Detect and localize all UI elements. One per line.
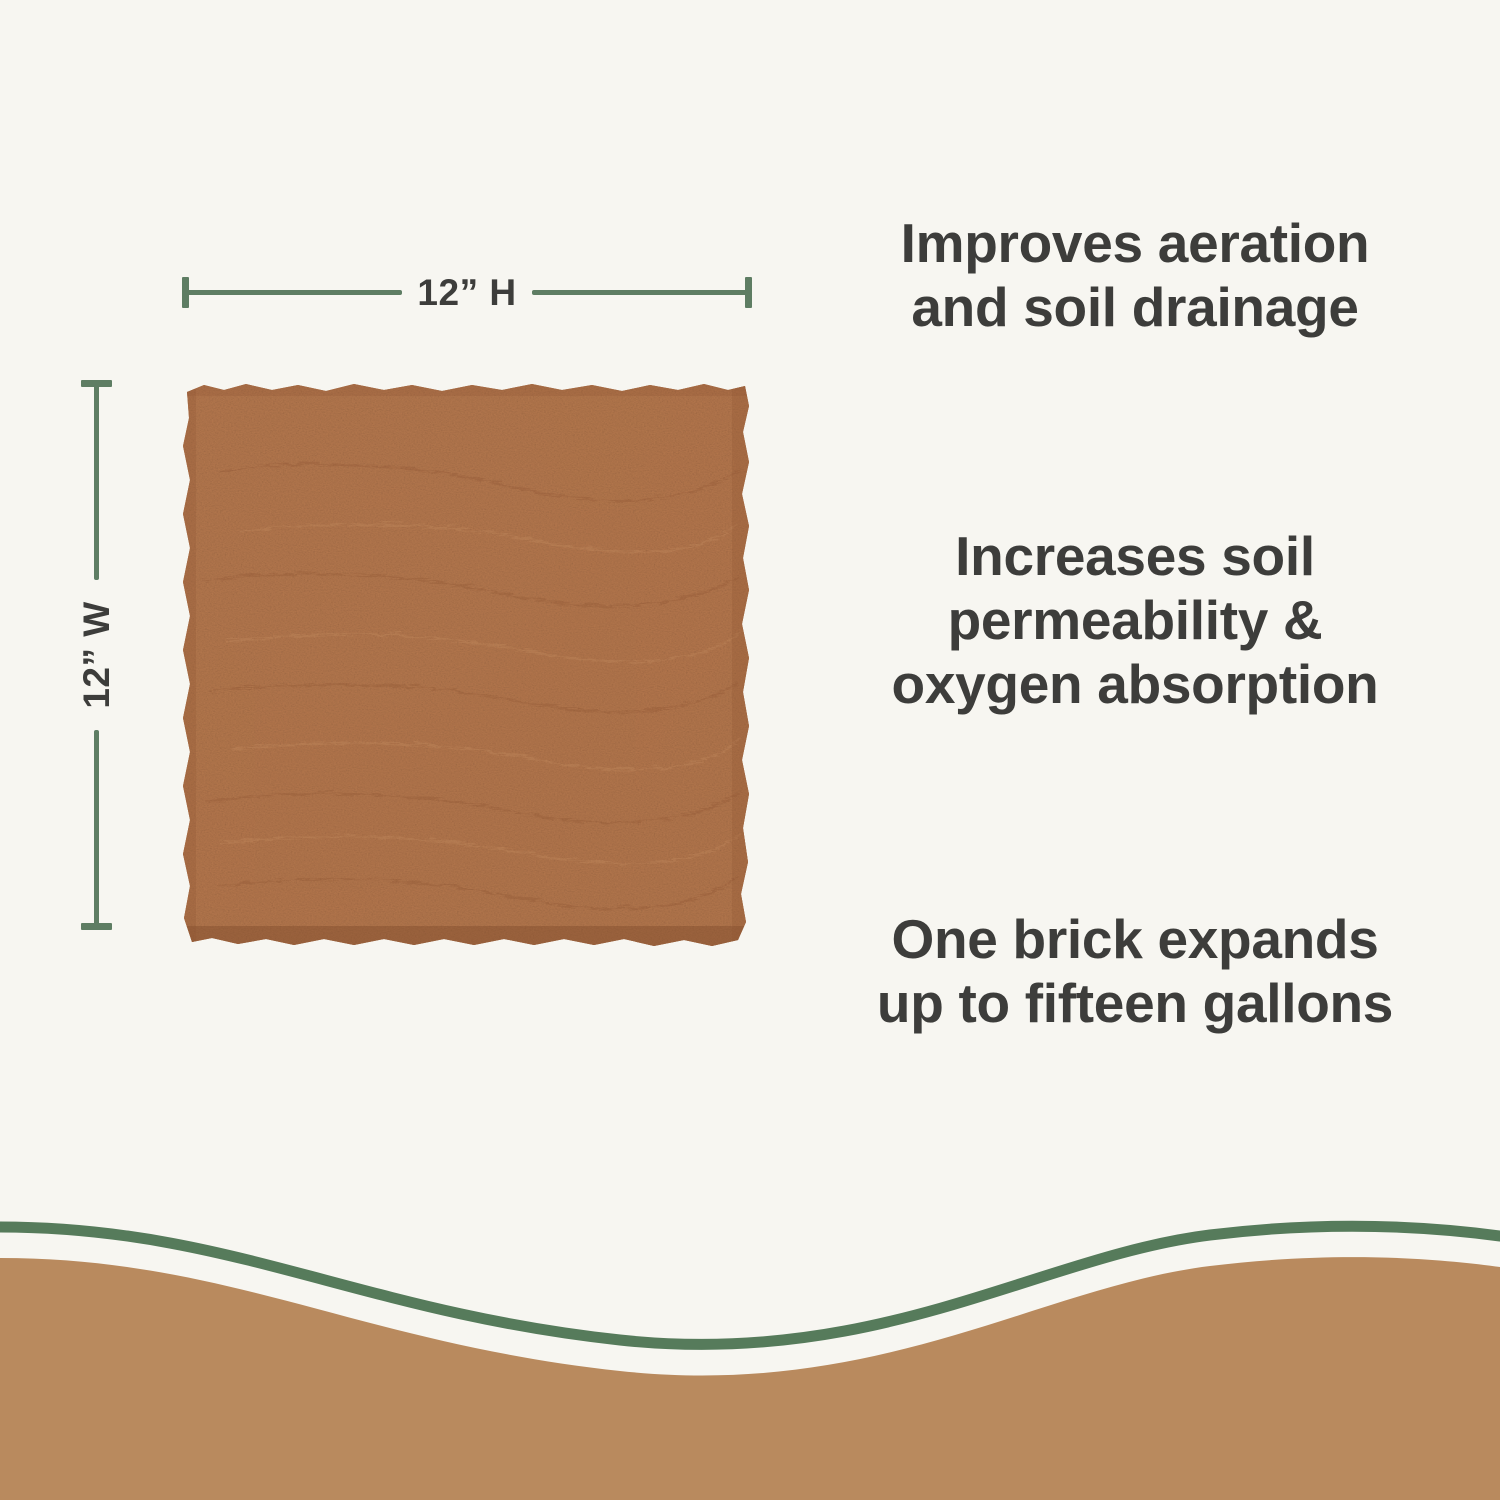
benefit-line: Increases soil: [790, 525, 1480, 589]
benefit-line: up to fifteen gallons: [790, 972, 1480, 1036]
benefit-line: and soil drainage: [790, 276, 1480, 340]
vertical-dimension-label: 12” W: [76, 601, 118, 708]
benefit-line: permeability &: [790, 589, 1480, 653]
dimension-rule-bottom: [94, 730, 99, 925]
horizontal-dimension-annotation: 12” H: [182, 270, 752, 316]
dimension-rule-top: [94, 385, 99, 580]
horizontal-dimension-label: 12” H: [182, 270, 752, 316]
benefit-item-permeability-oxygen: Increases soil permeability & oxygen abs…: [790, 525, 1480, 716]
benefit-line: Improves aeration: [790, 212, 1480, 276]
brick-body: [180, 380, 752, 950]
benefit-item-aeration-drainage: Improves aeration and soil drainage: [790, 212, 1480, 340]
infographic-canvas: 12” H 12” W: [0, 0, 1500, 1500]
vertical-dimension-annotation: 12” W: [74, 380, 120, 930]
benefit-line: oxygen absorption: [790, 653, 1480, 717]
benefit-item-expansion-volume: One brick expands up to fifteen gallons: [790, 908, 1480, 1036]
dimension-end-cap-bottom-icon: [81, 923, 112, 930]
benefit-line: One brick expands: [790, 908, 1480, 972]
coir-brick-product-image: [180, 380, 752, 950]
wave-tan-fill: [0, 1257, 1500, 1500]
footer-wave-decoration: [0, 1180, 1500, 1500]
